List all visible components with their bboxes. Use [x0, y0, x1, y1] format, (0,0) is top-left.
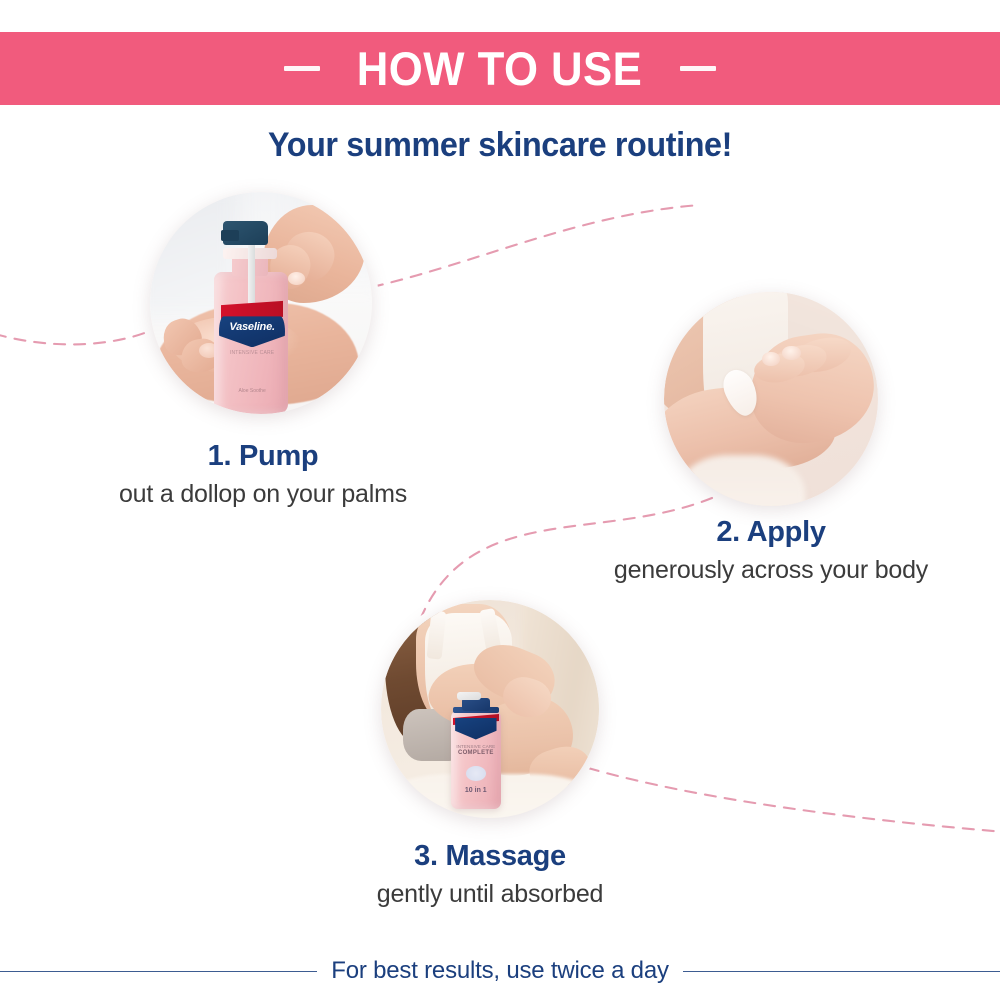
step-3-photo-inner: INTENSIVE CARE COMPLETE 10 in 1 — [381, 600, 599, 818]
step-3-caption: 3. Massage gently until absorbed — [290, 840, 690, 909]
step-2-description: generously across your body — [571, 555, 971, 585]
scene-apply-lotion — [664, 292, 878, 506]
vaseline-wordmark: Vaseline. — [219, 321, 286, 333]
footer: For best results, use twice a day — [0, 948, 1000, 994]
bottle-variant-text: Aloe Soothe — [223, 387, 281, 395]
bottle-badge: 10 in 1 — [459, 787, 492, 794]
bottle-pump-spout — [221, 230, 239, 241]
step-1-title: 1. Pump — [63, 440, 463, 473]
applying-nail-2 — [762, 352, 779, 366]
header-dash-right-icon — [680, 66, 716, 71]
step-3-photo: INTENSIVE CARE COMPLETE 10 in 1 — [381, 600, 599, 818]
step-2-caption: 2. Apply generously across your body — [571, 516, 971, 585]
footer-rule-left — [0, 971, 317, 972]
header-title: HOW TO USE — [357, 45, 643, 92]
header-dash-left-icon — [284, 66, 320, 71]
step-1-photo: Vaseline. INTENSIVE CARE Aloe Soothe — [150, 192, 372, 414]
bottle-pump-top — [457, 692, 481, 701]
bottle-cap — [462, 698, 490, 711]
step-1-description: out a dollop on your palms — [63, 479, 463, 509]
header-banner: HOW TO USE — [0, 32, 1000, 105]
subtitle: Your summer skincare routine! — [25, 126, 975, 165]
bottle-icon-circle — [466, 766, 486, 781]
step-2-photo-inner — [664, 292, 878, 506]
step-1-photo-inner: Vaseline. INTENSIVE CARE Aloe Soothe — [150, 192, 372, 414]
scene-massage-leg: INTENSIVE CARE COMPLETE 10 in 1 — [381, 600, 599, 818]
step-2-title: 2. Apply — [571, 516, 971, 549]
bottle-line-2: COMPLETE — [453, 750, 499, 756]
step-1-caption: 1. Pump out a dollop on your palms — [63, 440, 463, 509]
bottle-line-1: INTENSIVE CARE — [453, 744, 499, 749]
scene-hand-pump: Vaseline. INTENSIVE CARE Aloe Soothe — [150, 192, 372, 414]
step-3-title: 3. Massage — [290, 840, 690, 873]
how-to-use-infographic: HOW TO USE Your summer skincare routine! — [0, 0, 1000, 1000]
step-3-description: gently until absorbed — [290, 879, 690, 909]
footer-text: For best results, use twice a day — [331, 957, 669, 985]
bottle-subtitle-text: INTENSIVE CARE — [219, 350, 286, 356]
footer-rule-right — [683, 971, 1000, 972]
step-2-photo — [664, 292, 878, 506]
